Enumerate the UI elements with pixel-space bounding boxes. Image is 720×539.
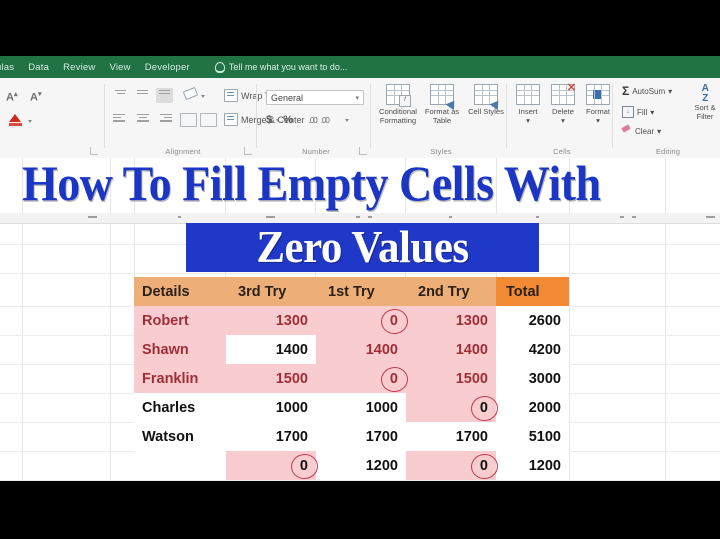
table-row[interactable]: Charles1000100002000 [134, 393, 569, 422]
cells-group-label: Cells [510, 147, 614, 156]
increase-font-size-icon[interactable]: A▴ [6, 90, 17, 104]
number-format-value: General [271, 93, 303, 103]
ribbon-tab-strip[interactable]: ulas Data Review View Developer Tell me … [0, 56, 720, 78]
ribbon-body: A▴ A▾ Wrap Text [0, 78, 720, 159]
value-cell[interactable]: 1400 [406, 335, 496, 364]
tab-data[interactable]: Data [21, 62, 56, 73]
bottom-letterbox-bar [0, 481, 720, 539]
group-divider [104, 84, 105, 148]
conditional-formatting-button[interactable]: f Conditional Formatting [376, 84, 420, 125]
insert-chevron-icon[interactable]: ▾ [510, 117, 546, 126]
table-row[interactable]: Watson1700170017005100 [134, 422, 569, 451]
clear-label: Clear [635, 127, 654, 136]
format-cells-icon [586, 84, 610, 106]
tell-me-label: Tell me what you want to do... [229, 62, 348, 72]
column-header-details[interactable]: Details [134, 277, 226, 306]
value-cell[interactable]: 1500 [226, 364, 316, 393]
fill-icon: ↓ [622, 106, 634, 118]
overlay-title-line-2-text: Zero Values [256, 222, 468, 274]
value-cell[interactable]: 1400 [316, 335, 406, 364]
currency-chevron-icon[interactable]: ▾ [276, 117, 279, 124]
column-header-1st-try[interactable]: 1st Try [316, 277, 406, 306]
font-color-chevron-icon[interactable] [28, 120, 32, 123]
circled-zero-annotation: 0 [390, 313, 398, 329]
insert-cells-button[interactable]: Insert ▾ [510, 84, 546, 125]
column-header-2nd-try[interactable]: 2nd Try [406, 277, 496, 306]
value-cell[interactable]: 0 [406, 393, 496, 422]
group-divider [612, 84, 613, 148]
align-middle-icon[interactable] [134, 88, 151, 103]
ribbon-group-cells: Insert ▾ ✕ Delete ▾ Format ▾ Cells [510, 78, 614, 158]
wrap-text-icon [224, 89, 238, 102]
screenshot-stage: ulas Data Review View Developer Tell me … [0, 0, 720, 539]
total-cell[interactable]: 2000 [496, 393, 569, 422]
value-cell[interactable]: 1000 [316, 393, 406, 422]
row-name-cell[interactable]: Franklin [134, 364, 226, 393]
number-quick-formats: $ ▾ % , .00 .00 [266, 114, 329, 126]
eraser-icon [622, 126, 632, 136]
value-cell[interactable]: 1400 [226, 335, 316, 364]
tab-review[interactable]: Review [56, 62, 102, 73]
currency-icon[interactable]: $ [266, 114, 272, 126]
circled-zero-annotation: 0 [390, 371, 398, 387]
decrease-indent-icon[interactable] [180, 113, 197, 127]
percent-icon[interactable]: % [283, 114, 293, 126]
tell-me-box[interactable]: Tell me what you want to do... [215, 62, 348, 73]
number-group-label: Number [260, 147, 372, 156]
format-as-table-button[interactable]: Format as Table [420, 84, 464, 125]
table-header-row: Details 3rd Try 1st Try 2nd Try Total [134, 277, 569, 306]
circled-zero-annotation: 0 [480, 458, 488, 474]
tab-view[interactable]: View [102, 62, 137, 73]
row-name-cell[interactable] [134, 451, 226, 480]
increase-decimal-icon[interactable]: .00 [309, 116, 317, 125]
worksheet-grid[interactable]: How To Fill Empty Cells With Zero Values… [0, 158, 720, 481]
total-cell[interactable]: 4200 [496, 335, 569, 364]
clear-button[interactable]: Clear ▾ [622, 126, 661, 136]
font-dialog-launcher[interactable] [90, 147, 98, 155]
overlay-title-line-2: Zero Values [186, 223, 539, 272]
comma-style-icon[interactable]: , [297, 117, 299, 123]
autosum-label: AutoSum [632, 87, 665, 96]
table-row[interactable]: 0120001200 [134, 451, 569, 480]
merge-center-icon [224, 113, 238, 126]
circled-zero-annotation: 0 [300, 458, 308, 474]
value-cell[interactable]: 1200 [316, 451, 406, 480]
editing-group-label: Editing [616, 147, 720, 156]
value-cell[interactable]: 0 [316, 364, 406, 393]
sort-filter-label-line2: Filter [688, 113, 720, 122]
value-cell[interactable]: 1000 [226, 393, 316, 422]
overlay-title-line-1-text: How To Fill Empty Cells With [22, 158, 601, 212]
data-table[interactable]: Details 3rd Try 1st Try 2nd Try Total Ro… [134, 277, 569, 480]
group-divider [506, 84, 507, 148]
delete-chevron-icon[interactable]: ▾ [545, 117, 581, 126]
align-center-icon[interactable] [134, 112, 151, 127]
alignment-group-label: Alignment [108, 147, 258, 156]
conditional-formatting-label: Conditional Formatting [376, 108, 420, 125]
value-cell[interactable]: 0 [406, 451, 496, 480]
orientation-icon[interactable] [184, 89, 197, 101]
align-right-icon[interactable] [156, 112, 173, 127]
alignment-dialog-launcher[interactable] [244, 147, 252, 155]
cell-styles-label: Cell Styles [464, 108, 508, 117]
table-row[interactable]: Robert1300013002600 [134, 306, 569, 335]
fill-chevron-icon[interactable]: ▾ [650, 108, 654, 117]
table-row[interactable]: Shawn1400140014004200 [134, 335, 569, 364]
row-name-cell[interactable]: Robert [134, 306, 226, 335]
styles-group-label: Styles [374, 147, 508, 156]
value-cell[interactable]: 1700 [316, 422, 406, 451]
decrease-font-size-icon[interactable]: A▾ [30, 90, 41, 104]
fill-button[interactable]: ↓ Fill ▾ [622, 106, 654, 118]
total-cell[interactable]: 3000 [496, 364, 569, 393]
total-cell[interactable]: 5100 [496, 422, 569, 451]
ribbon-group-number: General ▾ $ ▾ % , .00 .00 Number [260, 78, 372, 158]
delete-cells-button[interactable]: ✕ Delete ▾ [545, 84, 581, 125]
overlay-title-line-1: How To Fill Empty Cells With [22, 158, 720, 212]
ribbon-group-font: A▴ A▾ [0, 78, 106, 158]
value-cell[interactable]: 1300 [226, 306, 316, 335]
delete-cells-icon: ✕ [551, 84, 575, 106]
tab-developer[interactable]: Developer [138, 62, 197, 73]
group-divider [256, 84, 257, 148]
table-row[interactable]: Franklin1500015003000 [134, 364, 569, 393]
align-top-icon[interactable] [112, 88, 129, 103]
sort-az-icon: AZ [688, 84, 720, 104]
autosum-button[interactable]: Σ AutoSum ▾ [622, 86, 672, 96]
ribbon-group-alignment: Wrap Text Merge & Center Alignment [108, 78, 258, 158]
increase-indent-icon[interactable] [200, 113, 217, 127]
column-header-3rd-try[interactable]: 3rd Try [226, 277, 316, 306]
row-name-cell[interactable]: Watson [134, 422, 226, 451]
top-letterbox-bar [0, 0, 720, 56]
lightbulb-icon [215, 62, 225, 73]
total-cell[interactable]: 2600 [496, 306, 569, 335]
cell-styles-button[interactable]: Cell Styles [464, 84, 508, 117]
circled-zero-annotation: 0 [480, 400, 488, 416]
orientation-chevron-icon[interactable] [201, 95, 205, 98]
font-color-icon[interactable] [9, 114, 22, 127]
row-name-cell[interactable]: Shawn [134, 335, 226, 364]
sigma-icon: Σ [622, 86, 629, 96]
value-cell[interactable]: 1300 [406, 306, 496, 335]
ribbon-group-styles: f Conditional Formatting Format as Table… [374, 78, 508, 158]
format-as-table-label: Format as Table [420, 108, 464, 125]
value-cell[interactable]: 1500 [406, 364, 496, 393]
value-cell[interactable]: 1700 [406, 422, 496, 451]
value-cell[interactable]: 1700 [226, 422, 316, 451]
align-bottom-icon[interactable] [156, 88, 173, 103]
align-left-icon[interactable] [112, 112, 129, 127]
clear-chevron-icon[interactable]: ▾ [657, 127, 661, 136]
total-cell[interactable]: 1200 [496, 451, 569, 480]
column-header-total[interactable]: Total [496, 277, 569, 306]
number-dialog-launcher[interactable] [359, 147, 367, 155]
row-name-cell[interactable]: Charles [134, 393, 226, 422]
table-body: Robert1300013002600Shawn1400140014004200… [134, 306, 569, 480]
insert-cells-icon [516, 84, 540, 106]
group-divider [370, 84, 371, 148]
fill-label: Fill [637, 108, 647, 117]
ribbon-group-editing: Σ AutoSum ▾ ↓ Fill ▾ Clear ▾ AZ Sort & F… [616, 78, 720, 158]
autosum-chevron-icon[interactable]: ▾ [668, 87, 672, 96]
tab-formulas[interactable]: ulas [0, 62, 21, 73]
number-format-select[interactable]: General ▾ [266, 90, 364, 105]
decrease-decimal-icon[interactable]: .00 [321, 116, 329, 125]
chevron-down-icon: ▾ [355, 94, 359, 102]
conditional-formatting-icon: f [386, 84, 410, 106]
value-cell[interactable]: 0 [316, 306, 406, 335]
cell-styles-icon [474, 84, 498, 106]
format-as-table-icon [430, 84, 454, 106]
value-cell[interactable]: 0 [226, 451, 316, 480]
sort-and-filter-button[interactable]: AZ Sort & Filter [688, 84, 720, 121]
